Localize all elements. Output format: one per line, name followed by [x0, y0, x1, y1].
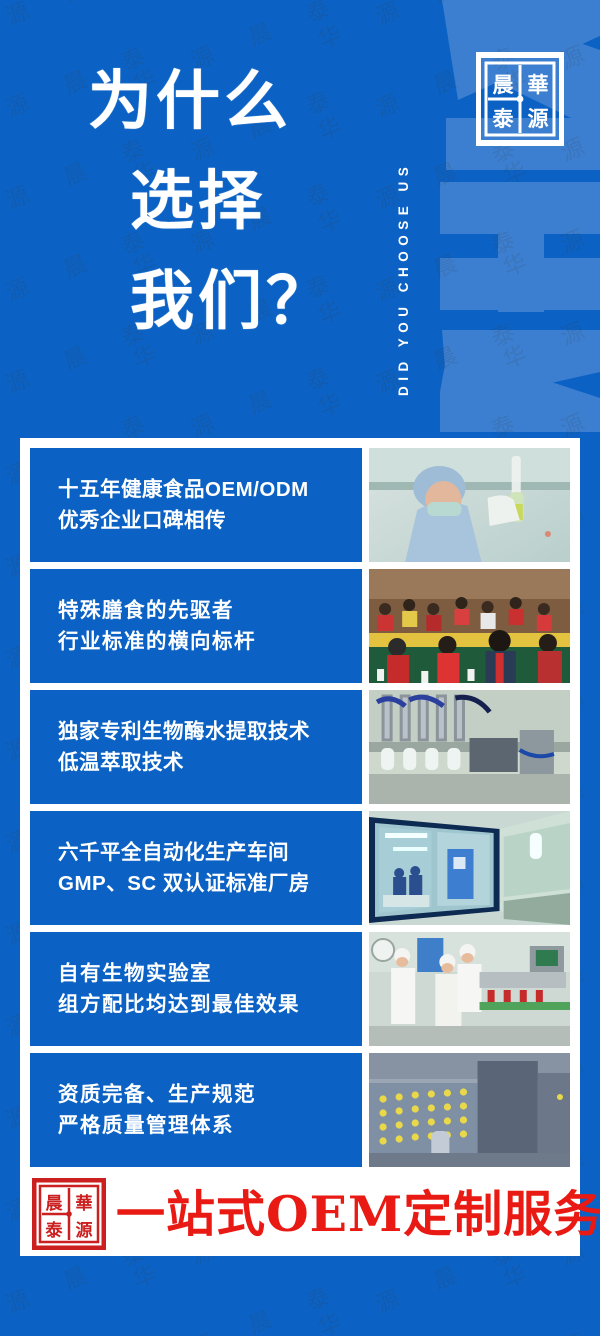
svg-text:華: 華 [76, 1194, 93, 1214]
feature-text-panel: 特殊膳食的先驱者行业标准的横向标杆 [30, 569, 362, 683]
lab-technician-testing-sample [369, 448, 570, 562]
feature-line: 严格质量管理体系 [58, 1110, 362, 1141]
page-title-line-1: 为什么 [88, 52, 388, 152]
poster-root: 华 源 晨 泰华 源 晨 泰华 源 晨 泰华 源 晨 泰华 源 晨 泰华 源 晨… [0, 0, 600, 1336]
poster-header: 为什么 选择 我们？ DID YOU CHOOSE US 晨 泰 華 源 [0, 0, 600, 432]
feature-text-panel: 六千平全自动化生产车间GMP、SC 双认证标准厂房 [30, 811, 362, 925]
svg-text:泰: 泰 [492, 106, 515, 131]
feature-line: 低温萃取技术 [58, 747, 362, 778]
svg-text:源: 源 [76, 1220, 93, 1241]
feature-line: 优秀企业口碑相传 [58, 505, 362, 536]
feature-line: 行业标准的横向标杆 [58, 626, 362, 657]
feature-line: 自有生物实验室 [58, 958, 362, 989]
liquid-filling-production-line [369, 690, 570, 804]
footer-slogan-text: 一站式OEM定制服务 [116, 1190, 600, 1239]
feature-line: 特殊膳食的先驱者 [58, 595, 362, 626]
cleanroom-corridor-window [369, 811, 570, 925]
feature-line: 六千平全自动化生产车间 [58, 837, 362, 868]
feature-line: 组方配比均达到最佳效果 [58, 989, 362, 1020]
feature-text-panel: 十五年健康食品OEM/ODM优秀企业口碑相传 [30, 448, 362, 562]
blister-packing-tablets [369, 1053, 570, 1167]
watermark-text: 华 源 晨 泰 [0, 1319, 164, 1336]
feature-row: 独家专利生物酶水提取技术低温萃取技术 [30, 690, 570, 804]
feature-list-card: 十五年健康食品OEM/ODM优秀企业口碑相传 特殊膳食的先驱者行业标准的横向标杆 [20, 438, 580, 1256]
page-title-line-3: 我们？ [88, 252, 388, 352]
feature-row: 十五年健康食品OEM/ODM优秀企业口碑相传 [30, 448, 570, 562]
conference-audience-hall [369, 569, 570, 683]
feature-rows: 十五年健康食品OEM/ODM优秀企业口碑相传 特殊膳食的先驱者行业标准的横向标杆 [30, 448, 570, 1167]
watermark-text: 华 源 晨 泰 [312, 1319, 534, 1336]
page-title-line-2: 选择 [88, 152, 388, 252]
feature-row: 资质完备、生产规范严格质量管理体系 [30, 1053, 570, 1167]
footer-slogan-band: 晨 泰 華 源 一站式OEM定制服务 [20, 1172, 580, 1256]
feature-line: 资质完备、生产规范 [58, 1079, 362, 1110]
feature-text-panel: 自有生物实验室组方配比均达到最佳效果 [30, 932, 362, 1046]
brand-stamp-logo-white: 晨 泰 華 源 [476, 52, 564, 146]
svg-text:泰: 泰 [46, 1220, 64, 1241]
watermark-text: 华 源 晨 泰 [127, 1271, 349, 1336]
vertical-english-caption: DID YOU CHOOSE US [396, 36, 411, 396]
svg-text:晨: 晨 [493, 72, 515, 97]
feature-line: GMP、SC 双认证标准厂房 [58, 868, 362, 899]
workers-inspecting-packaging-machine [369, 932, 570, 1046]
feature-row: 特殊膳食的先驱者行业标准的横向标杆 [30, 569, 570, 683]
svg-text:晨: 晨 [46, 1194, 64, 1214]
watermark-text: 华 源 晨 泰 [497, 1271, 600, 1336]
feature-row: 六千平全自动化生产车间GMP、SC 双认证标准厂房 [30, 811, 570, 925]
feature-line: 十五年健康食品OEM/ODM [58, 474, 362, 505]
page-title: 为什么 选择 我们？ [88, 52, 388, 352]
feature-line: 独家专利生物酶水提取技术 [58, 716, 362, 747]
svg-text:源: 源 [528, 106, 549, 131]
feature-text-panel: 独家专利生物酶水提取技术低温萃取技术 [30, 690, 362, 804]
feature-text-panel: 资质完备、生产规范严格质量管理体系 [30, 1053, 362, 1167]
feature-row: 自有生物实验室组方配比均达到最佳效果 [30, 932, 570, 1046]
brand-stamp-logo-red: 晨 泰 華 源 [32, 1178, 106, 1250]
svg-text:華: 華 [528, 72, 549, 97]
